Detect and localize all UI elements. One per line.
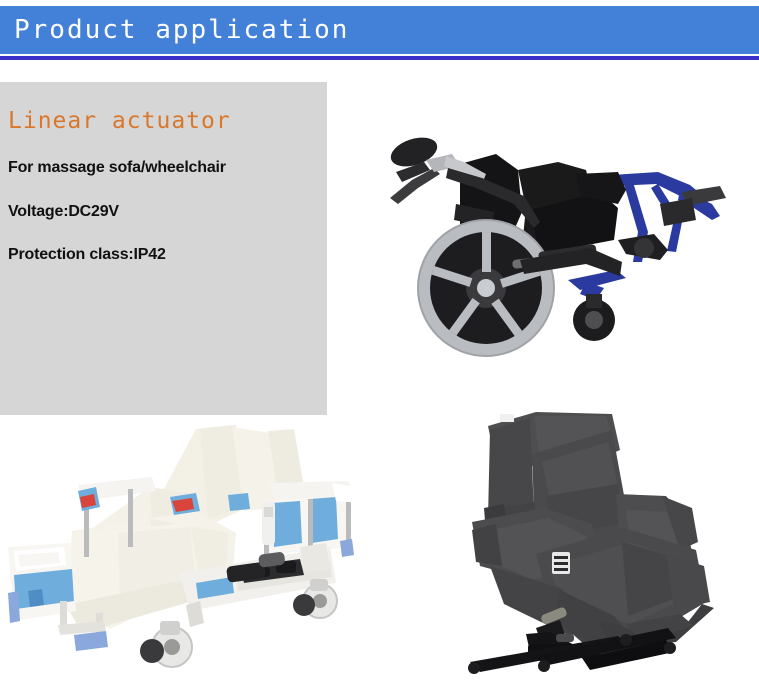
wheelchair-photo <box>390 112 759 360</box>
spec-title: Linear actuator <box>8 108 231 134</box>
header-banner: Product application <box>0 6 759 54</box>
spec-line-protection-class: Protection class:IP42 <box>8 246 166 264</box>
page-title: Product application <box>14 15 349 45</box>
wheelchair-illustration <box>390 112 759 360</box>
product-application-slide: Product application Linear actuator For … <box>0 0 759 695</box>
recliner-illustration <box>430 390 759 690</box>
recliner-tag <box>500 414 514 422</box>
spec-line-voltage: Voltage:DC29V <box>8 203 119 221</box>
bed-controller <box>262 501 275 545</box>
hospital-bed-illustration <box>0 415 380 695</box>
lift-recliner-photo <box>430 390 759 690</box>
hospital-bed-photo <box>0 415 380 695</box>
recliner-side-control <box>552 552 570 574</box>
header-divider <box>0 56 759 60</box>
spec-line-application: For massage sofa/wheelchair <box>8 159 226 177</box>
wheelchair-main-wheel <box>418 220 554 356</box>
